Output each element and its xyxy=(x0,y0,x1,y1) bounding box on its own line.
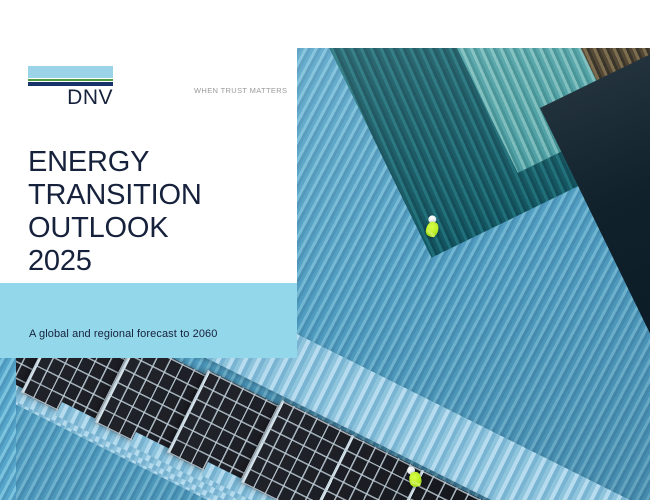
logo-wordmark: DNV xyxy=(28,87,113,109)
technician-worker xyxy=(407,465,424,489)
dnv-logo: DNV xyxy=(28,66,113,109)
title-line-2: TRANSITION xyxy=(28,179,278,212)
page-subtitle: A global and regional forecast to 2060 xyxy=(29,328,218,340)
title-line-3: OUTLOOK xyxy=(28,212,278,245)
report-cover-page: DNV WHEN TRUST MATTERS ENERGY TRANSITION… xyxy=(0,0,650,500)
logo-bar-blue-icon xyxy=(28,66,113,78)
card-blue-band xyxy=(0,283,297,358)
logo-bar-green-icon xyxy=(28,79,113,81)
brand-tagline: WHEN TRUST MATTERS xyxy=(194,86,287,95)
page-title: ENERGY TRANSITION OUTLOOK 2025 xyxy=(28,146,278,278)
title-line-1: ENERGY xyxy=(28,146,278,179)
cover-text-card: DNV WHEN TRUST MATTERS ENERGY TRANSITION… xyxy=(0,0,297,358)
solar-panel-row xyxy=(241,400,650,500)
title-line-4: 2025 xyxy=(28,245,278,278)
